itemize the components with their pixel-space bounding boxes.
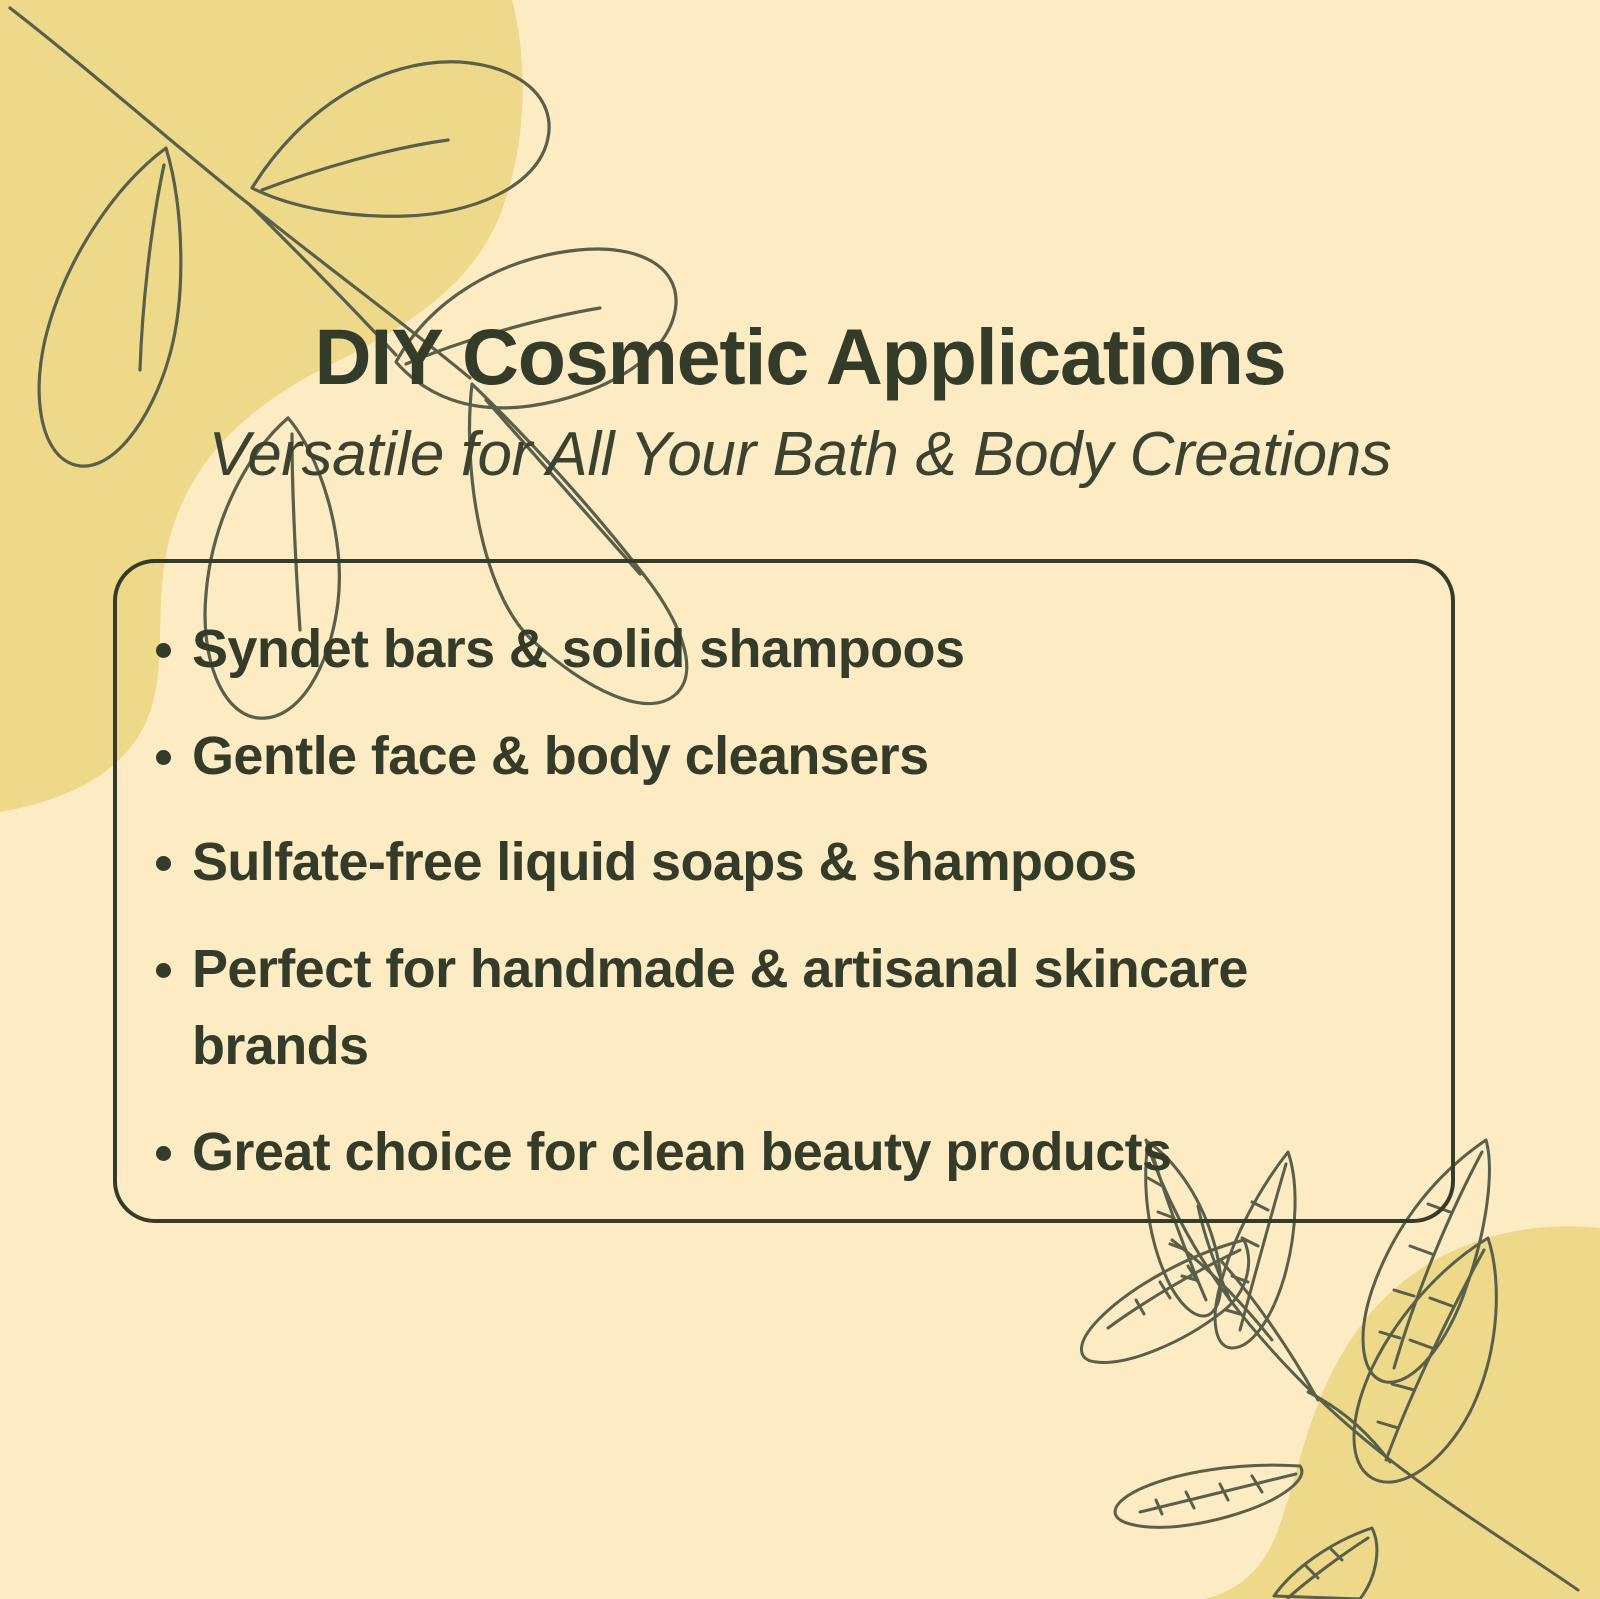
list-item: Perfect for handmade & artisanal skincar… [154, 931, 1433, 1084]
list-item: Great choice for clean beauty products [154, 1114, 1433, 1191]
list-item: Syndet bars & solid shampoos [154, 611, 1433, 688]
page-title: DIY Cosmetic Applications [100, 316, 1500, 398]
poster-content: DIY Cosmetic Applications Versatile for … [0, 0, 1600, 1599]
headline-block: DIY Cosmetic Applications Versatile for … [100, 316, 1500, 490]
applications-list: Syndet bars & solid shampoos Gentle face… [154, 611, 1433, 1191]
bullet-card: Syndet bars & solid shampoos Gentle face… [113, 559, 1455, 1223]
poster-canvas: DIY Cosmetic Applications Versatile for … [0, 0, 1600, 1599]
page-subtitle: Versatile for All Your Bath & Body Creat… [100, 420, 1500, 489]
list-item: Gentle face & body cleansers [154, 718, 1433, 795]
list-item: Sulfate-free liquid soaps & shampoos [154, 824, 1433, 901]
